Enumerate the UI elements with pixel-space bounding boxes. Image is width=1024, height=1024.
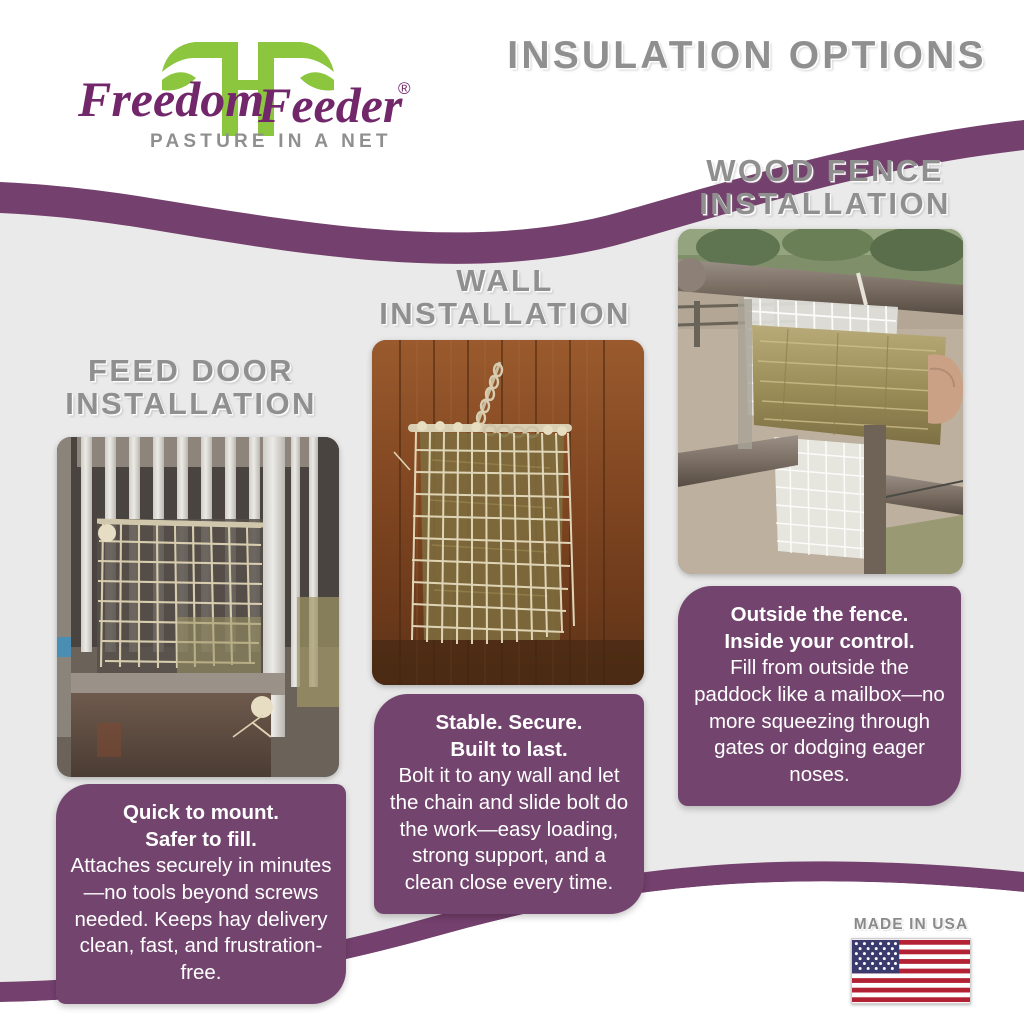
caption-feed-door-lead1: Quick to mount. (69, 800, 333, 827)
photo-wood-fence-art (678, 229, 963, 574)
brand-tagline: PASTURE IN A NET (150, 131, 392, 152)
usa-flag-icon (851, 938, 971, 1004)
section-title-wall-line2: INSTALLATION (379, 296, 631, 331)
photo-wood-fence-installation (678, 229, 963, 574)
section-title-wood-fence-line2: INSTALLATION (699, 186, 951, 221)
made-in-usa-badge: MADE IN USA (846, 916, 976, 1004)
section-title-wood-fence: WOOD FENCE INSTALLATION (660, 154, 990, 221)
photo-wall-art (372, 340, 644, 685)
photo-feed-door-art (57, 437, 339, 777)
caption-wall: Stable. Secure. Built to last. Bolt it t… (374, 694, 644, 914)
caption-wall-lead1: Stable. Secure. (387, 710, 631, 737)
photo-wall-installation (372, 340, 644, 685)
caption-feed-door-body: Attaches securely in minutes—no tools be… (71, 854, 332, 984)
svg-text:Freedom: Freedom (77, 71, 264, 127)
section-title-wood-fence-line1: WOOD FENCE (706, 153, 944, 188)
svg-text:Feeder: Feeder (257, 77, 403, 133)
brand-logo[interactable]: Freedom Feeder ® PASTURE IN A NET (62, 24, 422, 154)
caption-feed-door-lead2: Safer to fill. (69, 827, 333, 854)
caption-wood-fence-lead1: Outside the fence. (691, 602, 948, 629)
caption-feed-door: Quick to mount. Safer to fill. Attaches … (56, 784, 346, 1004)
made-in-usa-label: MADE IN USA (846, 916, 976, 934)
caption-wood-fence-body: Fill from outside the paddock like a mai… (694, 656, 945, 786)
section-title-wall-line1: WALL (456, 263, 553, 298)
section-title-feed-door: FEED DOOR INSTALLATION (26, 354, 356, 421)
page-title: INSULATION OPTIONS (492, 36, 1002, 77)
caption-wood-fence-lead2: Inside your control. (691, 629, 948, 656)
caption-wood-fence: Outside the fence. Inside your control. … (678, 586, 961, 806)
photo-feed-door-installation (57, 437, 339, 777)
brand-logo-svg: Freedom Feeder ® PASTURE IN A NET (62, 24, 422, 154)
registered-mark: ® (398, 79, 411, 98)
section-title-feed-door-line1: FEED DOOR (88, 353, 294, 388)
caption-wall-lead2: Built to last. (387, 737, 631, 764)
caption-wall-body: Bolt it to any wall and let the chain an… (390, 764, 628, 894)
infographic-canvas: Freedom Feeder ® PASTURE IN A NET INSULA… (0, 0, 1024, 1024)
section-title-wall: WALL INSTALLATION (340, 264, 670, 331)
section-title-feed-door-line2: INSTALLATION (65, 386, 317, 421)
logo-wordmark: Freedom Feeder ® (77, 71, 411, 133)
